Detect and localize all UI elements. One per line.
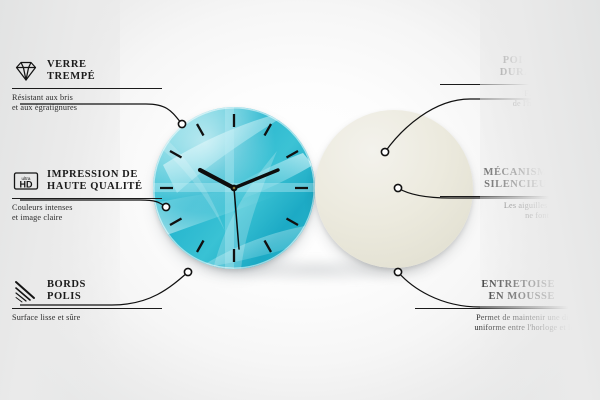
divider bbox=[12, 88, 162, 89]
feature-title: VERRE TREMPÉ bbox=[47, 59, 95, 84]
gear-icon bbox=[562, 165, 590, 193]
clock-front-face bbox=[153, 107, 315, 269]
foam-spacer-arrow-icon bbox=[562, 277, 590, 305]
picture-hanger-icon bbox=[562, 53, 590, 81]
feature-header: VERRE TREMPÉ bbox=[12, 57, 162, 85]
ultra-hd-icon: ultra HD bbox=[12, 167, 40, 195]
feature-bords-polis[interactable]: BORDS POLIS Surface lisse et sûre bbox=[12, 277, 162, 323]
feature-title: ENTRETOISE EN MOUSSE bbox=[481, 279, 555, 304]
feature-verre-trempe[interactable]: VERRE TREMPÉ Résistant aux bris et aux é… bbox=[12, 57, 162, 114]
feature-title: MÉCANISME SILENCIEUX bbox=[484, 167, 555, 192]
polished-edges-icon bbox=[12, 277, 40, 305]
feature-header: MÉCANISME SILENCIEUX bbox=[440, 165, 590, 193]
divider bbox=[12, 308, 162, 309]
divider bbox=[440, 84, 590, 85]
feature-description: Permet de maintenir une distance uniform… bbox=[415, 313, 590, 334]
clock-face-artwork bbox=[153, 107, 315, 269]
feature-header: BORDS POLIS bbox=[12, 277, 162, 305]
feature-description: Facilite le montage de l'horloge sur le … bbox=[440, 89, 590, 110]
feature-title: POIGNÉE DURABLE bbox=[500, 55, 555, 80]
feature-header: POIGNÉE DURABLE bbox=[440, 53, 590, 81]
hd-label: HD bbox=[20, 179, 33, 189]
feature-title: IMPRESSION DE HAUTE QUALITÉ bbox=[47, 169, 143, 194]
feature-mecanisme-silencieux[interactable]: MÉCANISME SILENCIEUX Les aiguilles de l'… bbox=[440, 165, 590, 222]
feature-description: Résistant aux bris et aux égratignures bbox=[12, 93, 162, 114]
feature-poignee-durable[interactable]: POIGNÉE DURABLE Facilite le montage de l… bbox=[440, 53, 590, 110]
feature-entretoise-mousse[interactable]: ENTRETOISE EN MOUSSE Permet de maintenir… bbox=[415, 277, 590, 334]
divider bbox=[415, 308, 590, 309]
feature-description: Surface lisse et sûre bbox=[12, 313, 162, 323]
feature-header: ultra HD IMPRESSION DE HAUTE QUALITÉ bbox=[12, 167, 162, 195]
feature-description: Les aiguilles de l'horloge ne font aucun… bbox=[440, 201, 590, 222]
infographic-canvas: VERRE TREMPÉ Résistant aux bris et aux é… bbox=[0, 0, 600, 400]
divider bbox=[440, 196, 590, 197]
feature-header: ENTRETOISE EN MOUSSE bbox=[415, 277, 590, 305]
feature-description: Couleurs intenses et image claire bbox=[12, 203, 162, 224]
divider bbox=[12, 198, 162, 199]
feature-impression-haute-qualite[interactable]: ultra HD IMPRESSION DE HAUTE QUALITÉ Cou… bbox=[12, 167, 162, 224]
diamond-icon bbox=[12, 57, 40, 85]
feature-title: BORDS POLIS bbox=[47, 279, 86, 304]
